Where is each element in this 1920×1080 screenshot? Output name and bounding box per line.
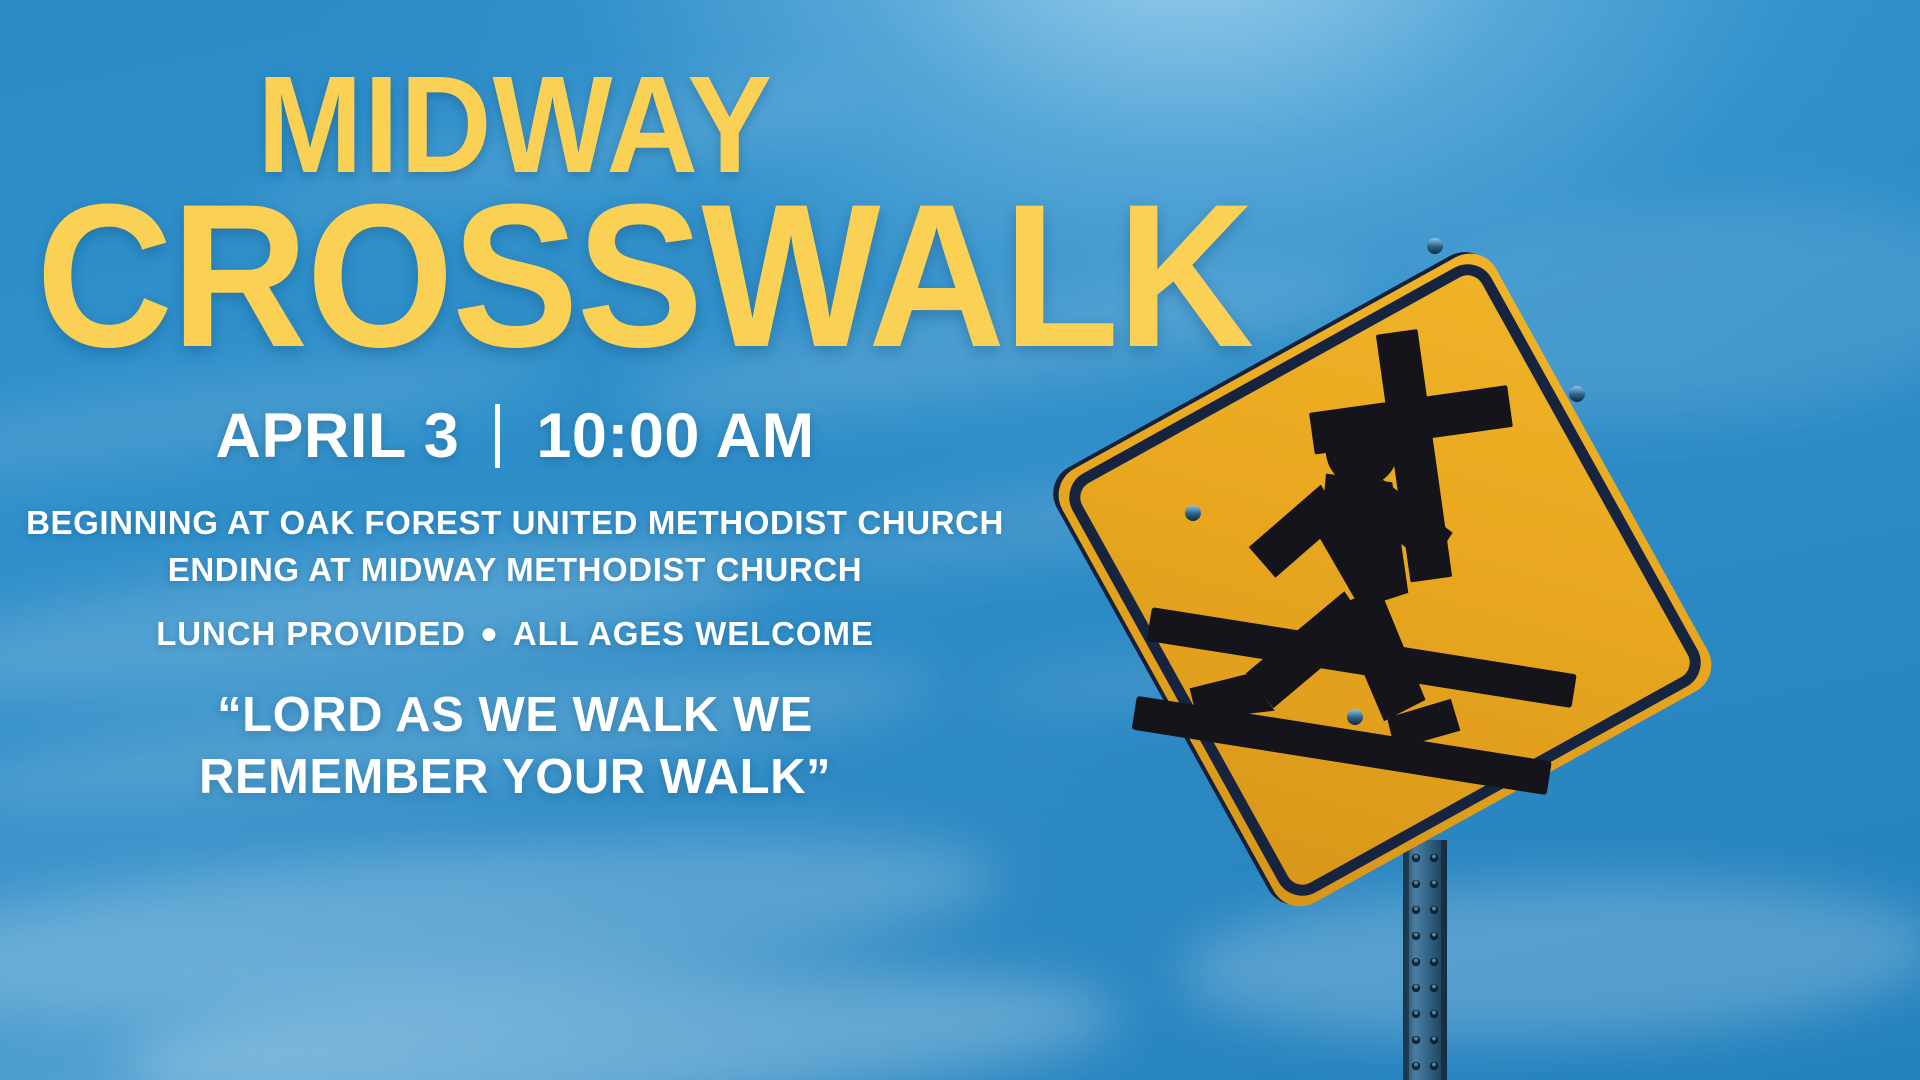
quote-line-1: “LORD AS WE WALK WE — [0, 685, 1030, 747]
schedule-divider-icon — [495, 404, 500, 468]
bolt-icon — [1185, 505, 1201, 521]
event-date: APRIL 3 — [215, 400, 459, 472]
flyer-text-block: MIDWAY CROSSWALK APRIL 3 10:00 AM BEGINN… — [0, 0, 1030, 1080]
event-time: 10:00 AM — [536, 400, 814, 472]
cloud-streak — [978, 613, 1501, 727]
event-schedule: APRIL 3 10:00 AM — [0, 400, 1030, 472]
bolt-icon — [1347, 709, 1363, 725]
pedestrian-figure — [1182, 388, 1537, 790]
cloud-streak — [1393, 179, 1920, 440]
perk-lunch: LUNCH PROVIDED — [156, 615, 466, 652]
cross-icon — [1300, 318, 1533, 593]
cloud-streak — [1177, 867, 1920, 1053]
event-quote: “LORD AS WE WALK WE REMEMBER YOUR WALK” — [0, 685, 1030, 808]
quote-line-2: REMEMBER YOUR WALK” — [0, 747, 1030, 809]
bullet-separator-icon: ● — [466, 617, 513, 650]
end-location: ENDING AT MIDWAY METHODIST CHURCH — [0, 547, 1030, 594]
page-title: MIDWAY CROSSWALK — [0, 58, 1030, 367]
bolt-icon — [1427, 238, 1443, 254]
title-line-crosswalk: CROSSWALK — [36, 187, 994, 367]
event-perks: LUNCH PROVIDED●ALL AGES WELCOME — [0, 615, 1030, 653]
bolt-icon — [1569, 386, 1585, 402]
sign-post — [1403, 840, 1447, 1080]
event-flyer-canvas: MIDWAY CROSSWALK APRIL 3 10:00 AM BEGINN… — [0, 0, 1920, 1080]
perk-all-ages: ALL AGES WELCOME — [513, 615, 874, 652]
event-locations: BEGINNING AT OAK FOREST UNITED METHODIST… — [0, 500, 1030, 594]
crosswalk-stripes — [1118, 557, 1581, 845]
start-location: BEGINNING AT OAK FOREST UNITED METHODIST… — [0, 500, 1030, 547]
